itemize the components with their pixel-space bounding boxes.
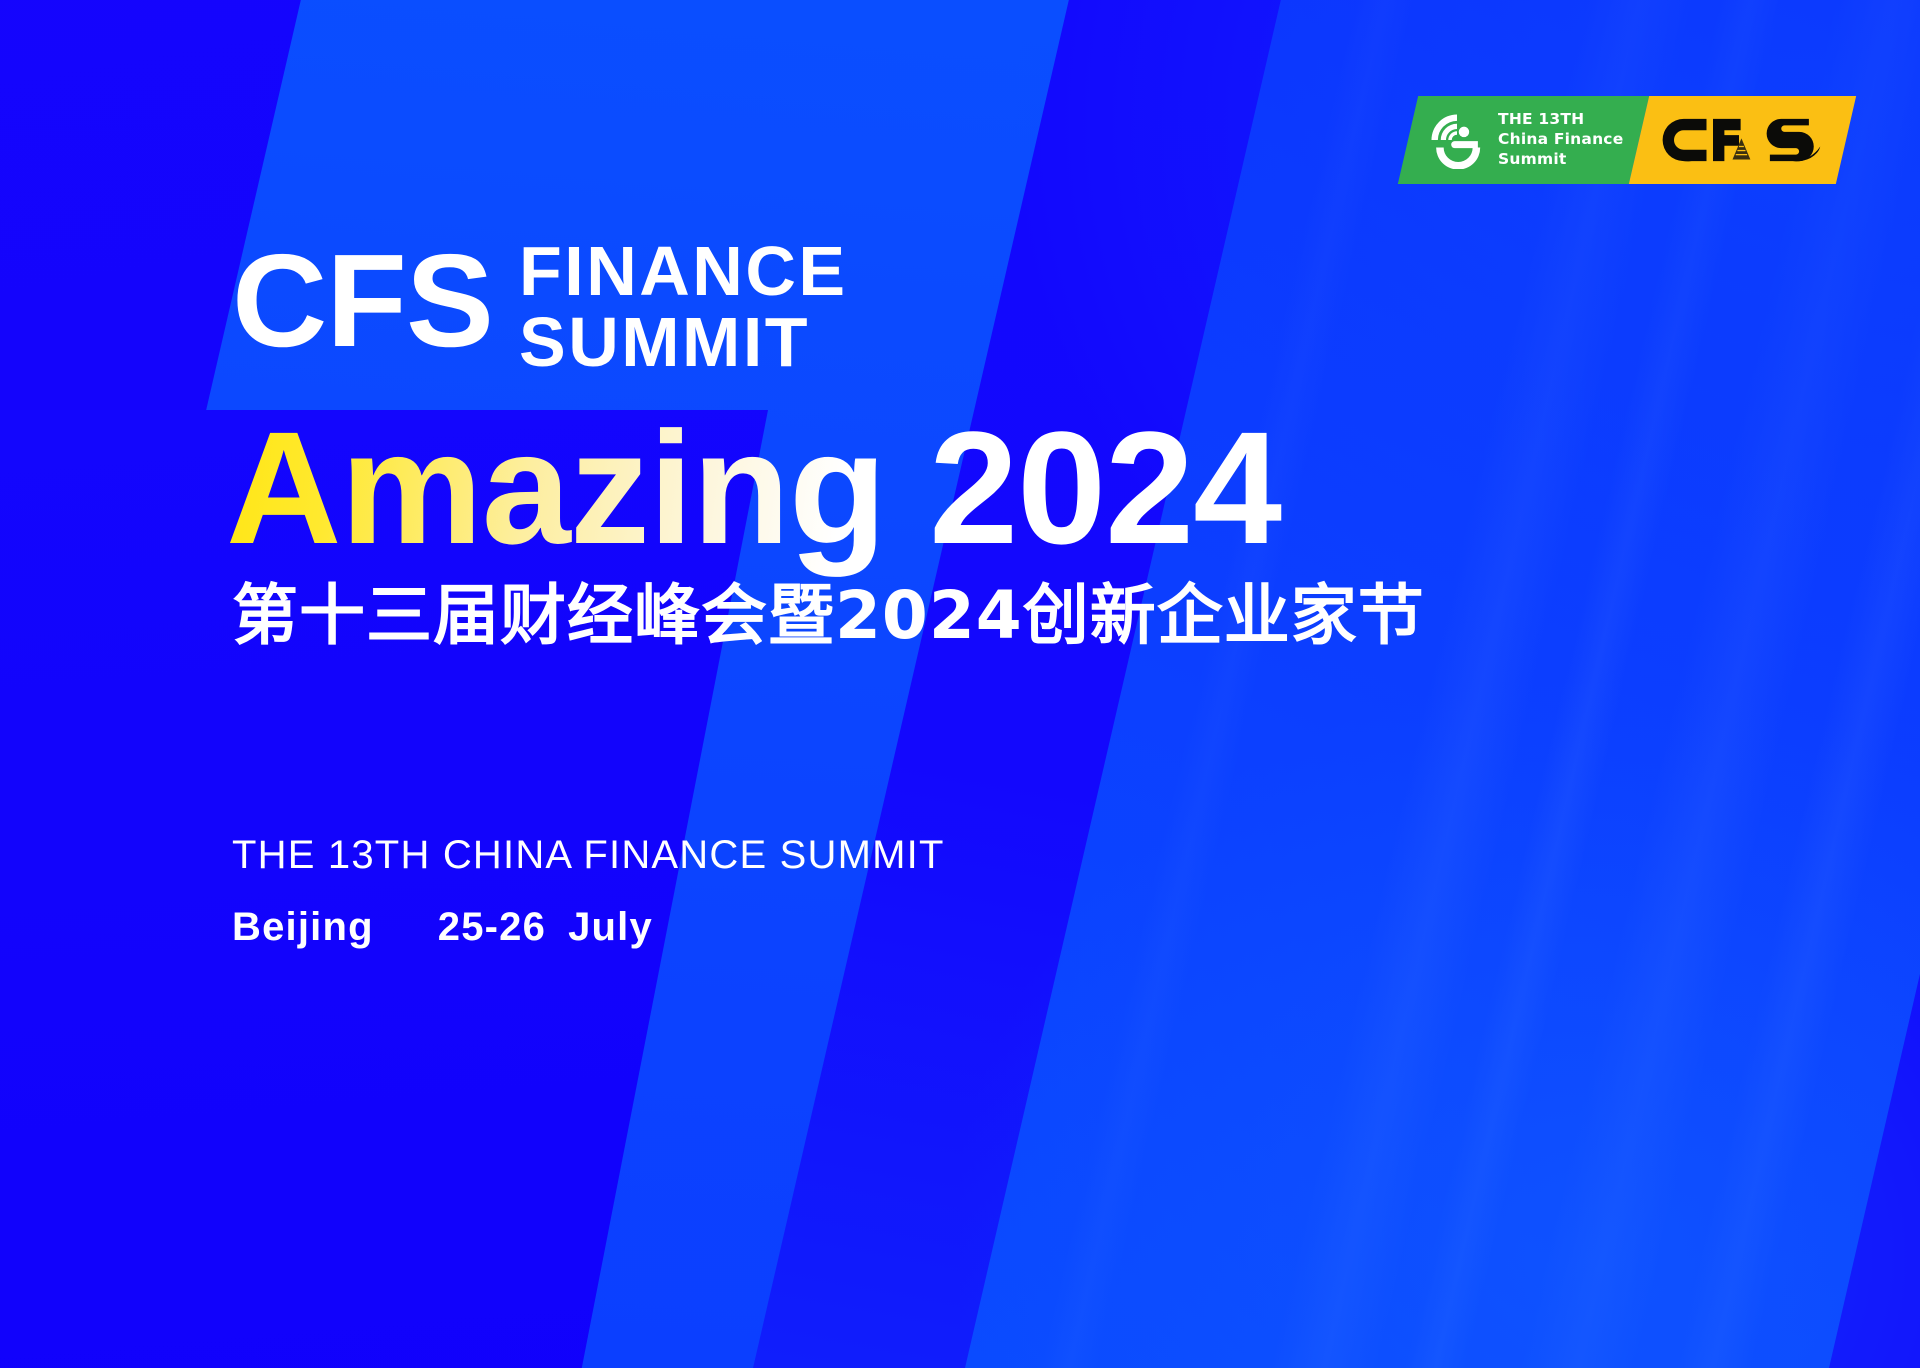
footer-city: Beijing	[232, 905, 374, 949]
cfs-logo-badge: THE 13TH China Finance Summit	[1398, 96, 1856, 184]
lockup-line-summit: SUMMIT	[519, 307, 848, 378]
footer-english-title: THE 13TH CHINA FINANCE SUMMIT	[232, 826, 945, 884]
badge-line-3: Summit	[1498, 150, 1623, 170]
background-streak-4	[1611, 0, 1920, 1368]
footer-location-date: Beijing25-26July	[232, 898, 945, 956]
background-band-bright-wedge	[0, 0, 1325, 1368]
chinese-subtitle: 第十三届财经峰会暨2024创新企业家节	[232, 580, 1425, 653]
background-band-mid-sliver	[722, 0, 1440, 1368]
background-streak-3	[1457, 0, 1920, 1368]
badge-green-text: THE 13TH China Finance Summit	[1498, 110, 1623, 169]
background-streak-1	[1208, 0, 1740, 1368]
footer-block: THE 13TH CHINA FINANCE SUMMIT Beijing25-…	[232, 826, 945, 956]
headline-amazing: Amazing	[226, 398, 886, 577]
background-streak-5	[977, 0, 1461, 1368]
finance-summit-stack: FINANCE SUMMIT	[519, 236, 848, 379]
cfs-acronym: CFS	[232, 240, 493, 361]
footer-dates: 25-26	[438, 905, 546, 949]
headline-space	[886, 398, 929, 577]
badge-line-2: China Finance	[1498, 130, 1623, 150]
lockup-line-finance: FINANCE	[519, 236, 848, 307]
background-band-right-field	[933, 0, 1920, 1368]
background-band-deep-left	[0, 0, 672, 1368]
headline-row: Amazing 2024	[226, 404, 1281, 572]
footer-month: July	[568, 905, 653, 949]
background-glow-bottom-right	[960, 684, 1920, 1368]
poster-canvas: THE 13TH China Finance Summit	[0, 0, 1920, 1368]
headline-year: 2024	[929, 398, 1281, 577]
badge-green-panel: THE 13TH China Finance Summit	[1398, 96, 1650, 184]
badge-yellow-panel	[1629, 96, 1856, 184]
cfs-pyramid-wordmark-icon	[1661, 114, 1824, 166]
background-streak-2	[1342, 0, 1830, 1368]
badge-line-1: THE 13TH	[1498, 110, 1623, 130]
cfs-finance-summit-lockup: CFS FINANCE SUMMIT	[232, 236, 848, 379]
background-layer	[0, 0, 1920, 1368]
cfs-circular-emblem-icon	[1428, 111, 1486, 169]
